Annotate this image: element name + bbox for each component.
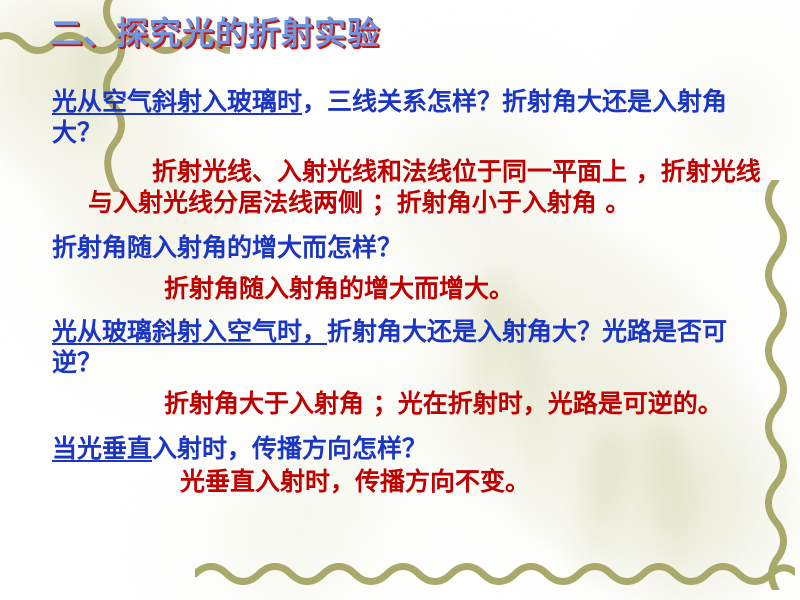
answer-1: 折射光线、入射光线和法线位于同一平面上 ，折射光线与入射光线分居法线两侧 ；折射… bbox=[52, 156, 762, 218]
question-3-underlined: 光从玻璃斜射入空气时， bbox=[52, 317, 327, 346]
answer-2: 折射角随入射角的增大而增大。 bbox=[52, 273, 762, 304]
slide-title: 二、探究光的折射实验 bbox=[0, 16, 430, 50]
answer-4: 光垂直入射时，传播方向不变。 bbox=[52, 466, 762, 497]
content-body: 光从空气斜射入玻璃时，三线关系怎样？折射角大还是入射角大？ 折射光线、入射光线和… bbox=[52, 86, 762, 497]
question-3: 光从玻璃斜射入空气时，折射角大还是入射角大？光路是否可逆？ bbox=[52, 316, 762, 378]
question-1-underlined: 光从空气斜射入玻璃时 bbox=[52, 87, 302, 116]
question-4-underlined: 当光垂直 bbox=[52, 434, 152, 463]
wavy-border-right-vertical-icon bbox=[762, 180, 790, 590]
question-4-rest: 入射时，传播方向怎样？ bbox=[152, 434, 427, 463]
question-2: 折射角随入射角的增大而怎样？ bbox=[52, 232, 762, 263]
question-1: 光从空气斜射入玻璃时，三线关系怎样？折射角大还是入射角大？ bbox=[52, 86, 762, 148]
answer-3: 折射角大于入射角 ；光在折射时，光路是可逆的。 bbox=[52, 388, 762, 419]
wavy-border-bottom-icon bbox=[195, 560, 795, 586]
question-4: 当光垂直入射时，传播方向怎样？ bbox=[52, 433, 762, 464]
slide-canvas: 二、探究光的折射实验 光从空气斜射入玻璃时，三线关系怎样？折射角大还是入射角大？… bbox=[0, 0, 800, 600]
